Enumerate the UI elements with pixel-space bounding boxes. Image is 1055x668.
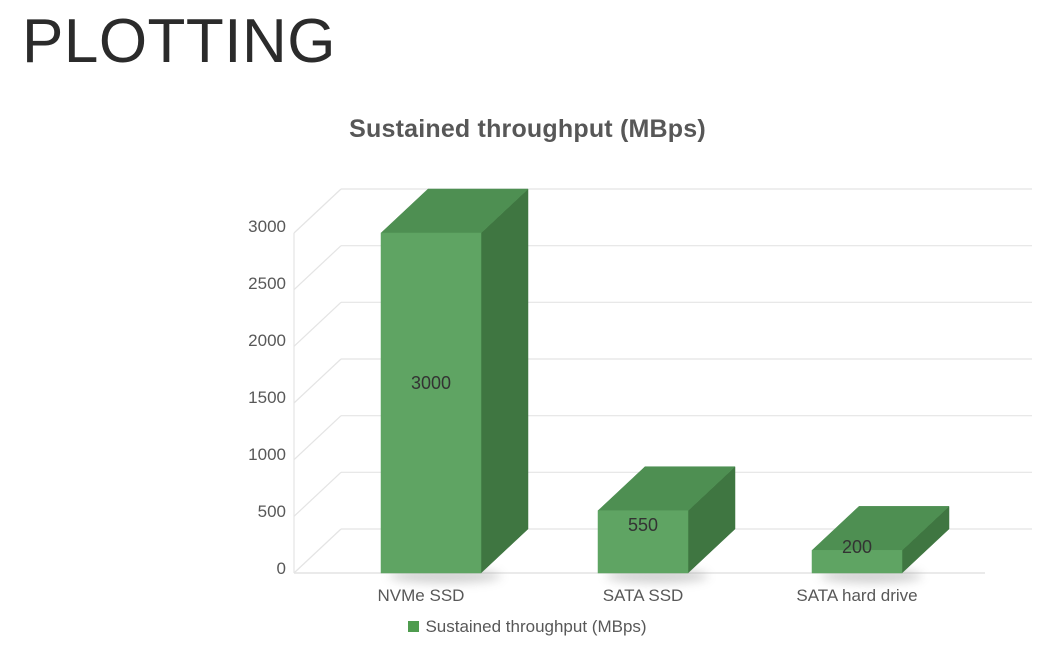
- page-title: PLOTTING: [22, 8, 336, 76]
- chart: Sustained throughput (MBps) 3000 2500 20…: [0, 100, 1055, 660]
- y-tick-label: 3000: [222, 218, 286, 235]
- x-tick-label: NVMe SSD: [331, 587, 511, 604]
- legend-label: Sustained throughput (MBps): [425, 618, 646, 635]
- slide: PLOTTING Sustained throughput (MBps) 300…: [0, 0, 1055, 668]
- y-tick-label: 1500: [222, 389, 286, 406]
- y-tick-label: 2000: [222, 332, 286, 349]
- y-tick-label: 0: [222, 560, 286, 577]
- x-tick-label: SATA hard drive: [767, 587, 947, 604]
- bar-value-label: 3000: [381, 374, 481, 392]
- chart-legend: Sustained throughput (MBps): [0, 618, 1055, 635]
- x-tick-label: SATA SSD: [553, 587, 733, 604]
- y-tick-label: 500: [222, 503, 286, 520]
- bar-value-label: 550: [598, 516, 688, 534]
- plot-area: 3000 2500 2000 1500 1000 500 0 NVMe SSD …: [0, 100, 1055, 660]
- bar-value-label: 200: [812, 538, 902, 556]
- legend-color-swatch: [408, 621, 419, 632]
- chart-canvas: [0, 100, 1055, 660]
- y-tick-label: 2500: [222, 275, 286, 292]
- y-tick-label: 1000: [222, 446, 286, 463]
